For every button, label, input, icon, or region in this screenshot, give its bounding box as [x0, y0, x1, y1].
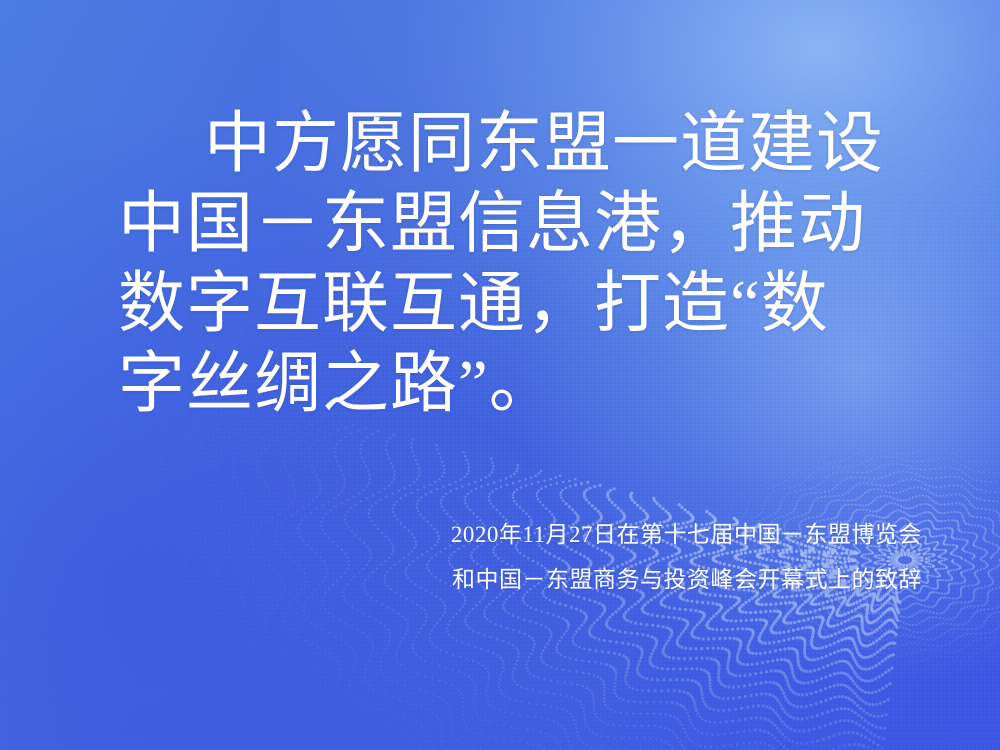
- attribution-line-2: 和中国－东盟商务与投资峰会开幕式上的致辞: [0, 557, 922, 602]
- quote-block: 中方愿同东盟一道建设 中国－东盟信息港，推动 数字互联互通，打造“数 字丝绸之路…: [118, 104, 918, 424]
- attribution-block: 2020年11月27日在第十七届中国－东盟博览会 和中国－东盟商务与投资峰会开幕…: [0, 512, 922, 602]
- quote-line-1: 中方愿同东盟一道建设: [118, 104, 918, 184]
- quote-line-2: 中国－东盟信息港，推动: [118, 184, 918, 264]
- content-layer: 中方愿同东盟一道建设 中国－东盟信息港，推动 数字互联互通，打造“数 字丝绸之路…: [0, 0, 1000, 750]
- quote-line-4: 字丝绸之路”。: [118, 344, 918, 424]
- quote-line-3: 数字互联互通，打造“数: [118, 264, 918, 344]
- quote-card: 中方愿同东盟一道建设 中国－东盟信息港，推动 数字互联互通，打造“数 字丝绸之路…: [0, 0, 1000, 750]
- attribution-line-1: 2020年11月27日在第十七届中国－东盟博览会: [0, 512, 922, 557]
